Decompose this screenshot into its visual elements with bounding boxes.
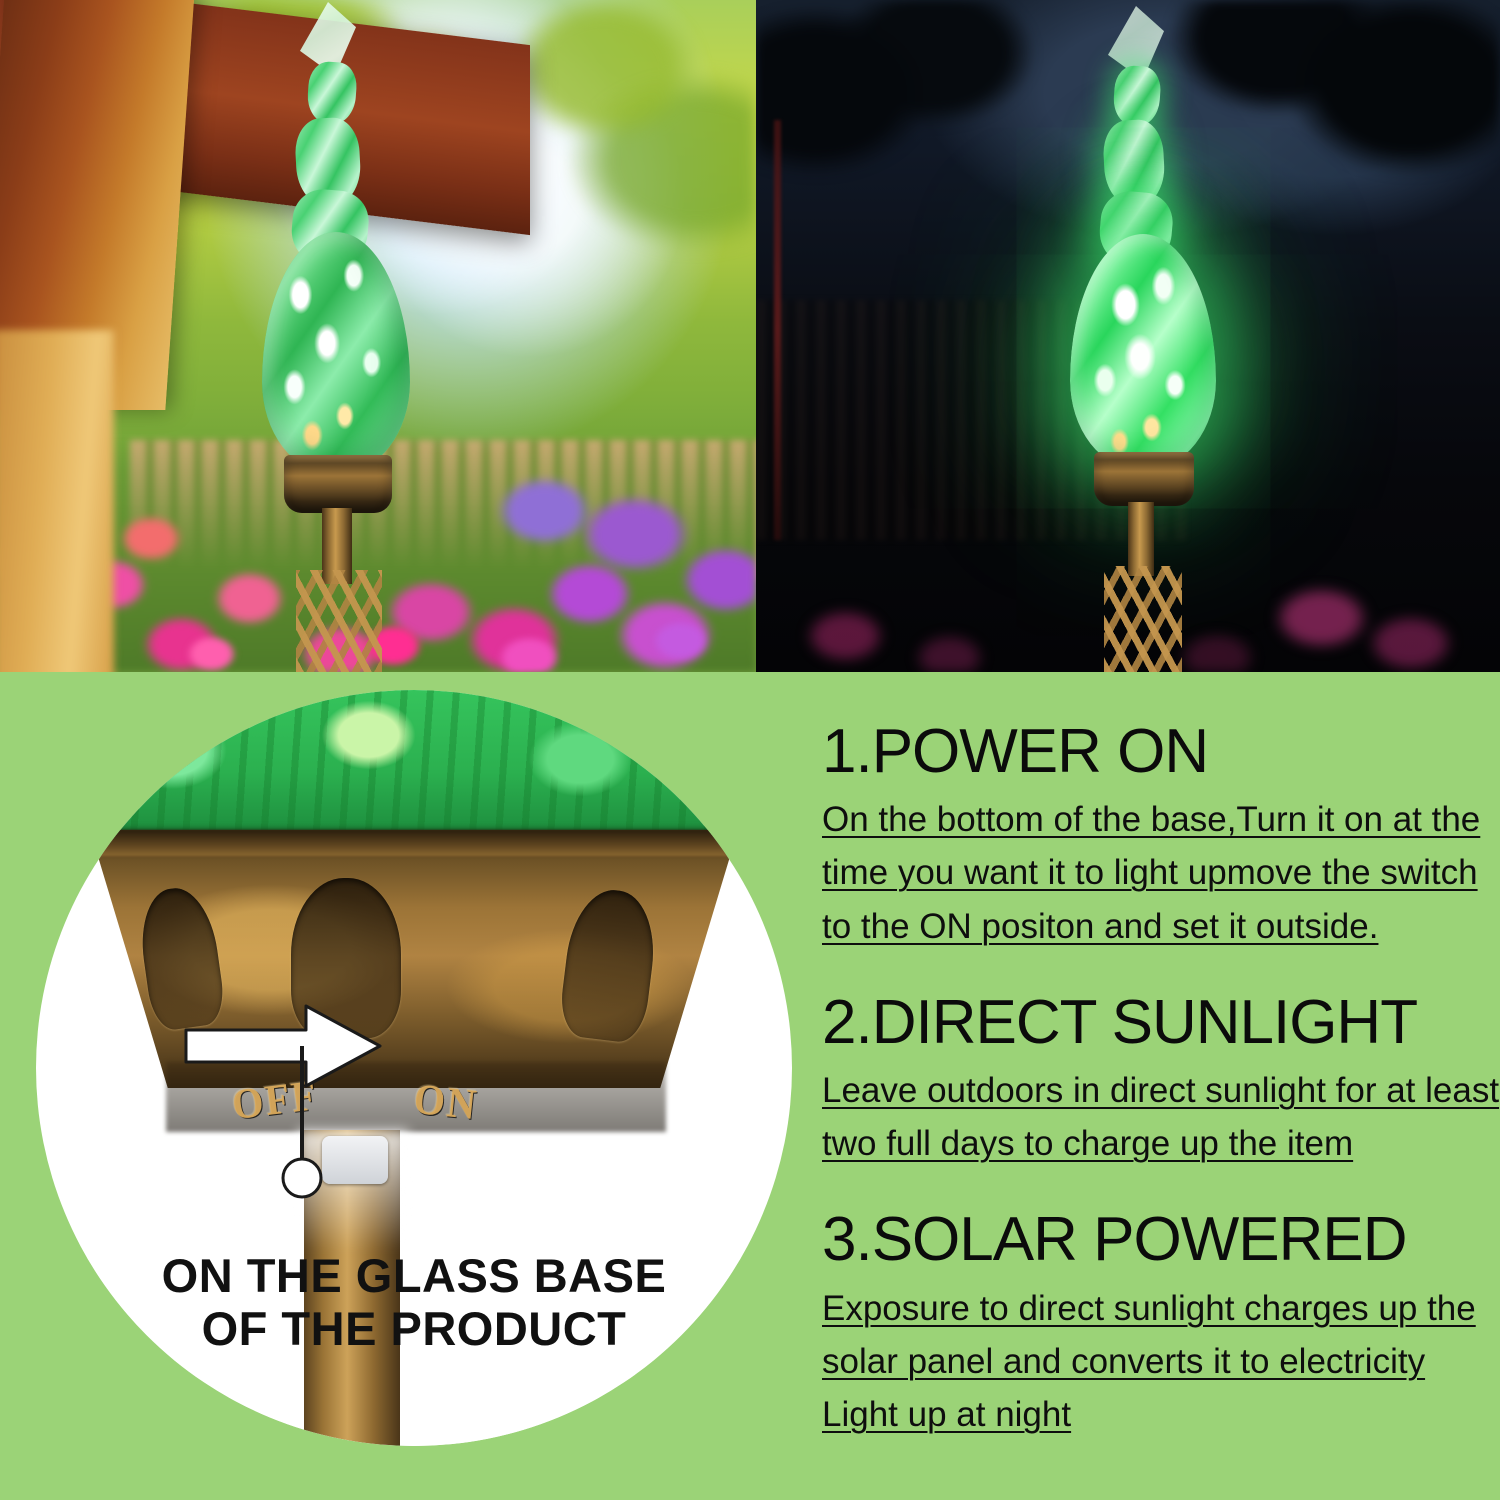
- detail-caption: ON THE GLASS BASE OF THE PRODUCT: [36, 1250, 792, 1355]
- detail-caption-line-2: OF THE PRODUCT: [36, 1303, 792, 1356]
- instruction-step-3: 3.SOLAR POWERED Exposure to direct sunli…: [822, 1208, 1482, 1441]
- step-1-line-3: to the ON positon and set it outside.: [822, 900, 1482, 953]
- nighttime-product-photo: [756, 0, 1500, 672]
- instructions-panel: OFF ON ON THE GLASS BASE OF THE PRODUCT …: [0, 672, 1500, 1500]
- step-1-line-1: On the bottom of the base,Turn it on at …: [822, 793, 1482, 846]
- step-3-line-1: Exposure to direct sunlight charges up t…: [822, 1282, 1482, 1335]
- night-pole: [774, 120, 781, 540]
- step-3-line-3: Light up at night: [822, 1388, 1482, 1441]
- instruction-steps-list: 1.POWER ON On the bottom of the base,Tur…: [822, 720, 1482, 1441]
- bronze-base-cup: [1094, 452, 1194, 506]
- twisted-spiral-stake: [1104, 566, 1182, 672]
- step-3-line-2: solar panel and converts it to electrici…: [822, 1335, 1482, 1388]
- detail-caption-line-1: ON THE GLASS BASE: [36, 1250, 792, 1303]
- step-2-line-1: Leave outdoors in direct sunlight for at…: [822, 1064, 1482, 1117]
- step-2-line-2: two full days to charge up the item: [822, 1117, 1482, 1170]
- step-1-line-2: time you want it to light upmove the swi…: [822, 846, 1482, 899]
- copper-rod: [1128, 502, 1154, 576]
- wooden-post-lower: [0, 330, 114, 672]
- twisted-spiral-stake: [296, 570, 382, 672]
- step-2-title: 2.DIRECT SUNLIGHT: [822, 991, 1482, 1054]
- base-detail-callout: OFF ON ON THE GLASS BASE OF THE PRODUCT: [36, 690, 792, 1482]
- switch-direction-arrow-icon: [156, 890, 476, 1210]
- product-photo-strip: [0, 0, 1500, 672]
- bronze-base-cup: [284, 455, 392, 513]
- green-glass-edge: [36, 690, 792, 840]
- bronze-base-rim: [90, 830, 738, 856]
- instruction-step-1: 1.POWER ON On the bottom of the base,Tur…: [822, 720, 1482, 953]
- instruction-step-2: 2.DIRECT SUNLIGHT Leave outdoors in dire…: [822, 991, 1482, 1171]
- daylight-product-photo: [0, 0, 756, 672]
- step-3-title: 3.SOLAR POWERED: [822, 1208, 1482, 1271]
- step-1-title: 1.POWER ON: [822, 720, 1482, 783]
